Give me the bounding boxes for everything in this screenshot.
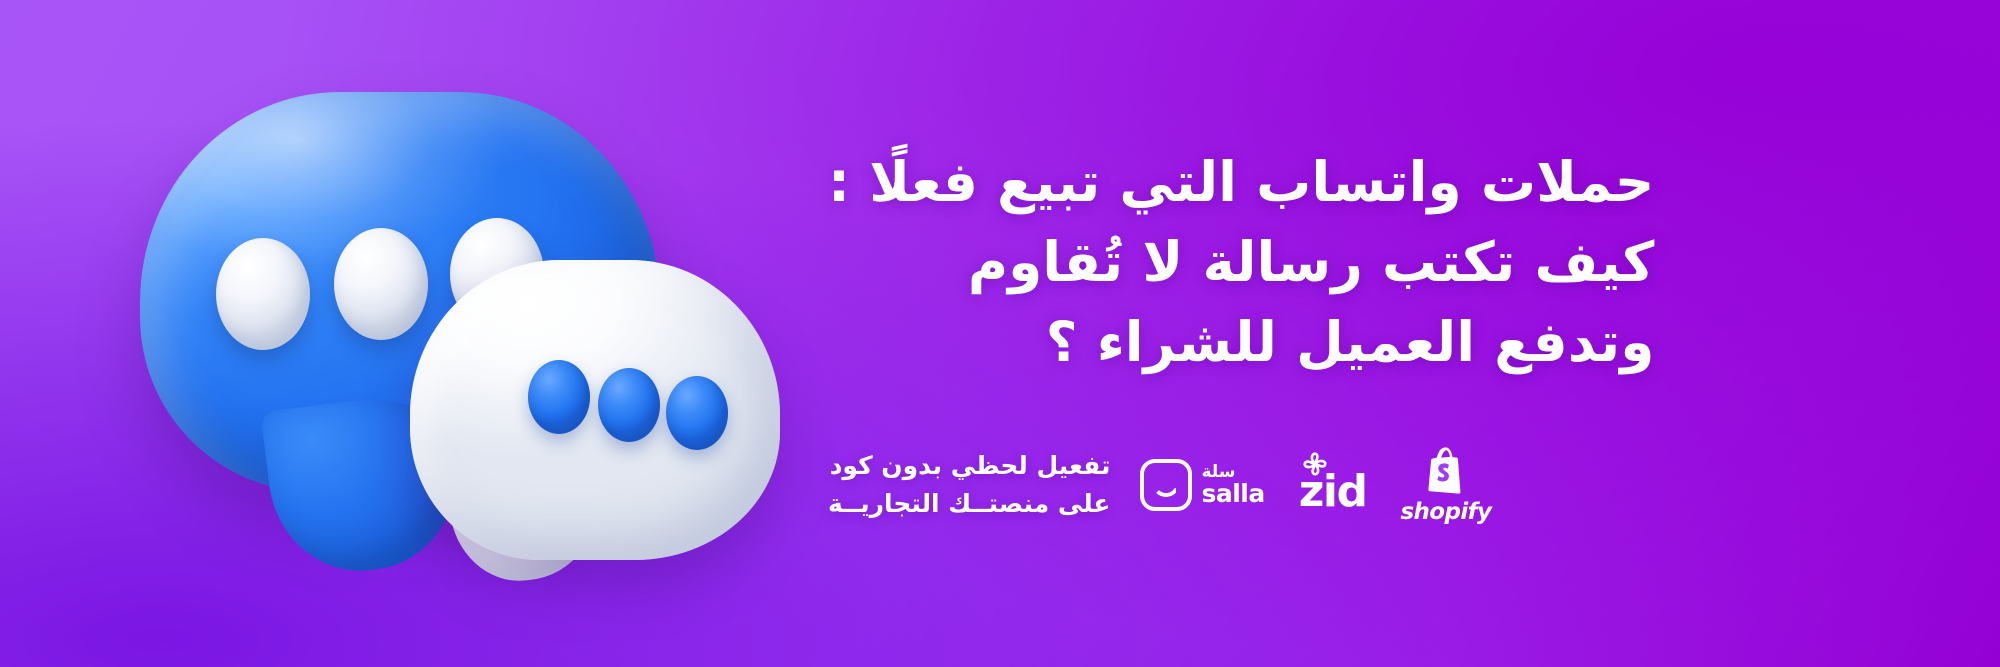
salla-smile-curve — [1152, 482, 1180, 497]
logo-salla: سلة salla — [1140, 459, 1264, 511]
white-bubble-dot-2 — [598, 368, 660, 442]
zid-knot-icon — [1297, 446, 1333, 486]
shopify-bag-icon — [1423, 444, 1469, 498]
platforms-row: تفعيل لحظي بدون كود على منصتــك التجاريـ… — [828, 444, 1491, 525]
salla-wordmark: سلة salla — [1201, 463, 1264, 508]
headline-line-1: حملات واتساب التي تبيع فعلًا : — [828, 142, 1654, 222]
logo-shopify: shopify — [1400, 444, 1491, 525]
white-bubble-dot-1 — [528, 360, 590, 434]
salla-arabic: سلة — [1201, 463, 1235, 481]
headline-line-3: وتدفع العميل للشراء ؟ — [828, 302, 1654, 382]
tagline: تفعيل لحظي بدون كود على منصتــك التجاريـ… — [828, 447, 1110, 523]
blue-bubble-dot-1 — [216, 238, 310, 350]
logo-zid: zid — [1299, 458, 1367, 512]
headline-line-2: كيف تكتب رسالة لا تُقاوم — [828, 222, 1654, 302]
salla-smile-icon — [1140, 459, 1192, 511]
tagline-line-2: على منصتــك التجاريــة — [828, 485, 1110, 523]
tagline-line-1: تفعيل لحظي بدون كود — [828, 447, 1110, 485]
salla-latin: salla — [1201, 481, 1264, 508]
platform-logos: shopify zid — [1140, 444, 1491, 525]
shopify-wordmark: shopify — [1400, 499, 1491, 525]
white-bubble-dot-3 — [666, 376, 728, 450]
chat-bubbles-illustration — [120, 70, 880, 600]
banner-copy: حملات واتساب التي تبيع فعلًا : كيف تكتب … — [828, 0, 1888, 667]
headline: حملات واتساب التي تبيع فعلًا : كيف تكتب … — [828, 142, 1654, 383]
blue-bubble-dot-2 — [334, 228, 428, 340]
promo-banner: حملات واتساب التي تبيع فعلًا : كيف تكتب … — [0, 0, 2000, 667]
